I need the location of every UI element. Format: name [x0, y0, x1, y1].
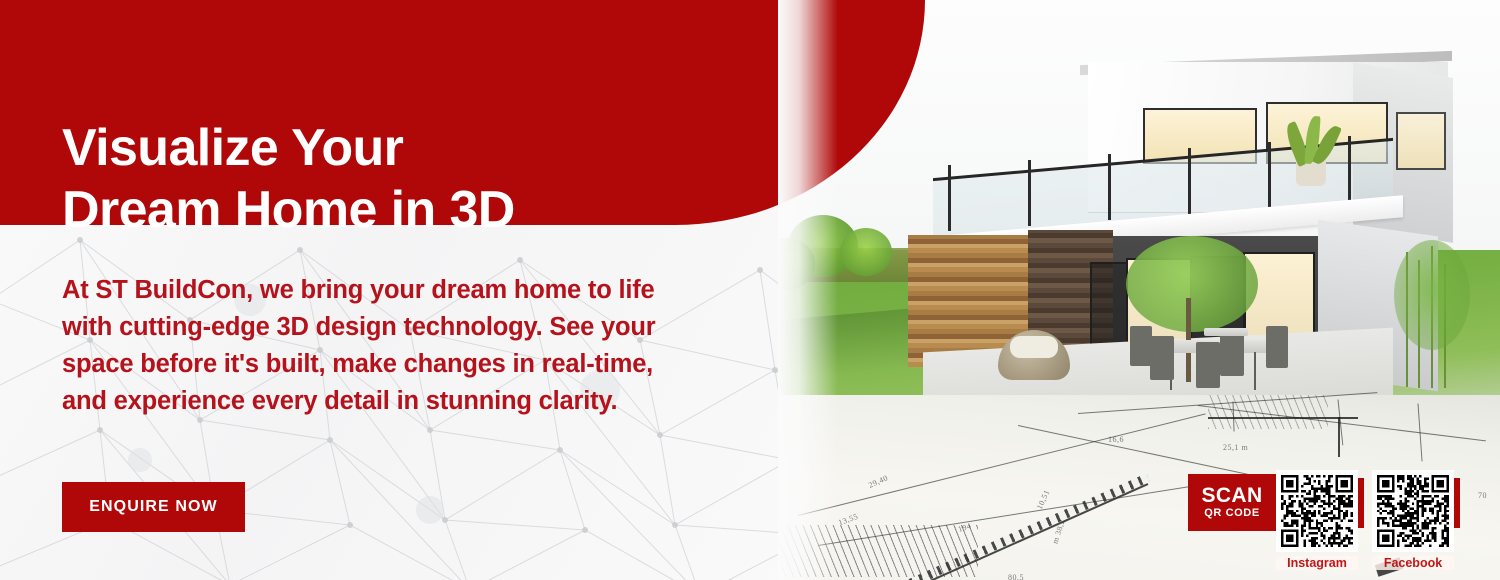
scan-badge-title: SCAN — [1201, 485, 1262, 506]
headline-line-2: Dream Home in 3D — [62, 179, 515, 241]
qr-code-icon[interactable] — [1276, 470, 1358, 552]
promo-banner: 29,40 13,55 10,51 194 m 38,2 80,5 16,6 2… — [0, 0, 1500, 580]
blueprint-annotation: 29,40 — [867, 473, 889, 490]
courtyard-tree — [1126, 236, 1258, 332]
qr-code-canvas[interactable] — [1281, 475, 1353, 547]
bamboo-foliage — [1394, 240, 1470, 350]
background-tree — [840, 228, 892, 276]
qr-label-instagram: Instagram — [1276, 556, 1358, 570]
railing-post — [1028, 160, 1031, 226]
patio-chair — [1196, 342, 1220, 388]
lounge-cushion — [1010, 336, 1058, 358]
railing-post — [1108, 154, 1111, 220]
railing-post — [1188, 148, 1191, 214]
side-table — [1204, 328, 1248, 336]
blueprint-annotation: 25,1 m — [1223, 443, 1248, 452]
body-line-1: At ST BuildCon, we bring your dream home… — [62, 272, 762, 309]
enquire-now-button[interactable]: ENQUIRE NOW — [62, 482, 245, 532]
railing-post — [1268, 142, 1271, 208]
headline-line-1: Visualize Your — [62, 117, 515, 179]
page-title: Visualize Your Dream Home in 3D — [62, 117, 515, 241]
body-line-2: with cutting-edge 3D design technology. … — [62, 309, 762, 346]
body-line-4: and experience every detail in stunning … — [62, 383, 762, 420]
body-paragraph: At ST BuildCon, we bring your dream home… — [62, 272, 762, 420]
blueprint-line — [798, 413, 1206, 516]
blueprint-annotation: 80,5 — [1008, 573, 1024, 580]
qr-label-facebook: Facebook — [1372, 556, 1454, 570]
blueprint-hatching — [1208, 395, 1328, 429]
patio-chair — [1266, 326, 1288, 368]
blueprint-annotation: 70 — [1478, 491, 1487, 500]
table-leg — [1254, 352, 1256, 390]
body-line-3: space before it's built, make changes in… — [62, 346, 762, 383]
patio-chair — [1130, 326, 1152, 366]
blueprint-annotation: 16,6 — [1108, 435, 1124, 444]
upper-window — [1396, 112, 1446, 170]
scan-badge-subtitle: QR CODE — [1204, 506, 1260, 520]
qr-item-instagram[interactable]: Instagram — [1276, 470, 1358, 552]
image-left-fade — [778, 0, 838, 580]
patio-chair — [1150, 336, 1174, 380]
qr-item-facebook[interactable]: Facebook — [1372, 470, 1454, 552]
qr-code-canvas[interactable] — [1377, 475, 1449, 547]
house-3d-render — [898, 40, 1498, 370]
scan-qr-badge: SCAN QR CODE — [1188, 474, 1276, 531]
railing-post — [948, 165, 951, 231]
blueprint-outline — [1338, 417, 1340, 457]
railing-post — [1348, 136, 1351, 202]
patio-chair — [1220, 332, 1244, 376]
qr-code-icon[interactable] — [1372, 470, 1454, 552]
